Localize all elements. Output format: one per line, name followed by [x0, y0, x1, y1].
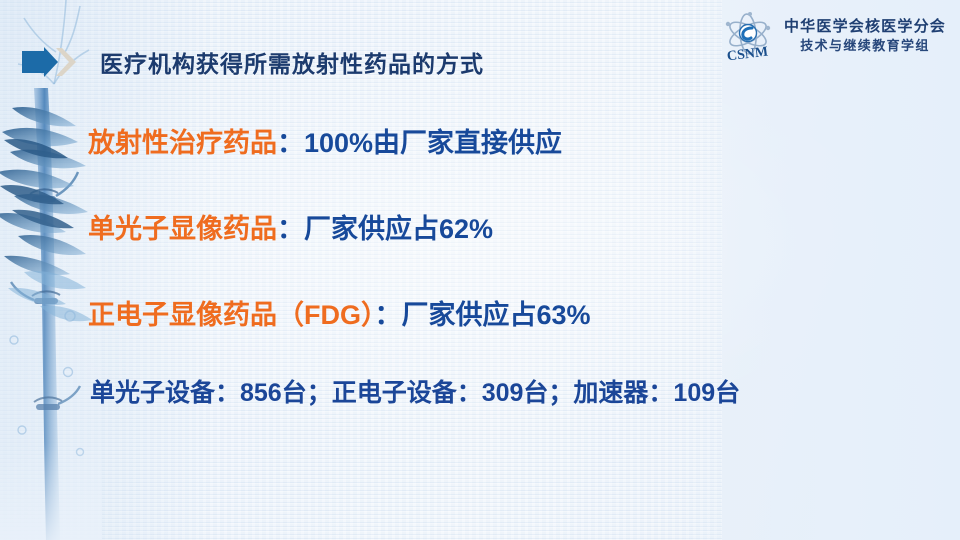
content-line-3-label: 正电子显像药品（FDG）: [88, 300, 375, 330]
content-line-1-label: 放射性治疗药品: [88, 128, 277, 158]
content-line-2-value: ：厂家供应占62%: [277, 214, 493, 244]
slide-canvas: CSNM 中华医学会核医学分会 技术与继续教育学组 医疗机构获得所需放射性药品的…: [0, 0, 960, 540]
content-line-3: 正电子显像药品（FDG）：厂家供应占63%: [88, 300, 938, 331]
content-summary-text: 单光子设备：856台；正电子设备：309台；加速器：109台: [90, 379, 740, 407]
logo-title-secondary: 技术与继续教育学组: [784, 39, 946, 53]
content-line-3-value: ：厂家供应占63%: [375, 300, 591, 330]
csnm-atom-logo-icon: CSNM: [720, 8, 776, 64]
arrow-right-icon: [22, 47, 80, 77]
content-line-1-value: ：100%由厂家直接供应: [277, 128, 562, 158]
content-line-2-label: 单光子显像药品: [88, 214, 277, 244]
content-line-2: 单光子显像药品：厂家供应占62%: [88, 214, 938, 245]
logo-title-primary: 中华医学会核医学分会: [784, 19, 946, 36]
svg-text:CSNM: CSNM: [726, 45, 769, 64]
page-title: 医疗机构获得所需放射性药品的方式: [100, 45, 484, 79]
content-line-1: 放射性治疗药品：100%由厂家直接供应: [88, 128, 938, 159]
title-row: 医疗机构获得所需放射性药品的方式: [22, 45, 484, 79]
organization-logo: CSNM 中华医学会核医学分会 技术与继续教育学组: [720, 8, 946, 64]
content-body: 放射性治疗药品：100%由厂家直接供应 单光子显像药品：厂家供应占62% 正电子…: [88, 128, 938, 408]
content-summary-line: 单光子设备：856台；正电子设备：309台；加速器：109台: [90, 379, 938, 408]
